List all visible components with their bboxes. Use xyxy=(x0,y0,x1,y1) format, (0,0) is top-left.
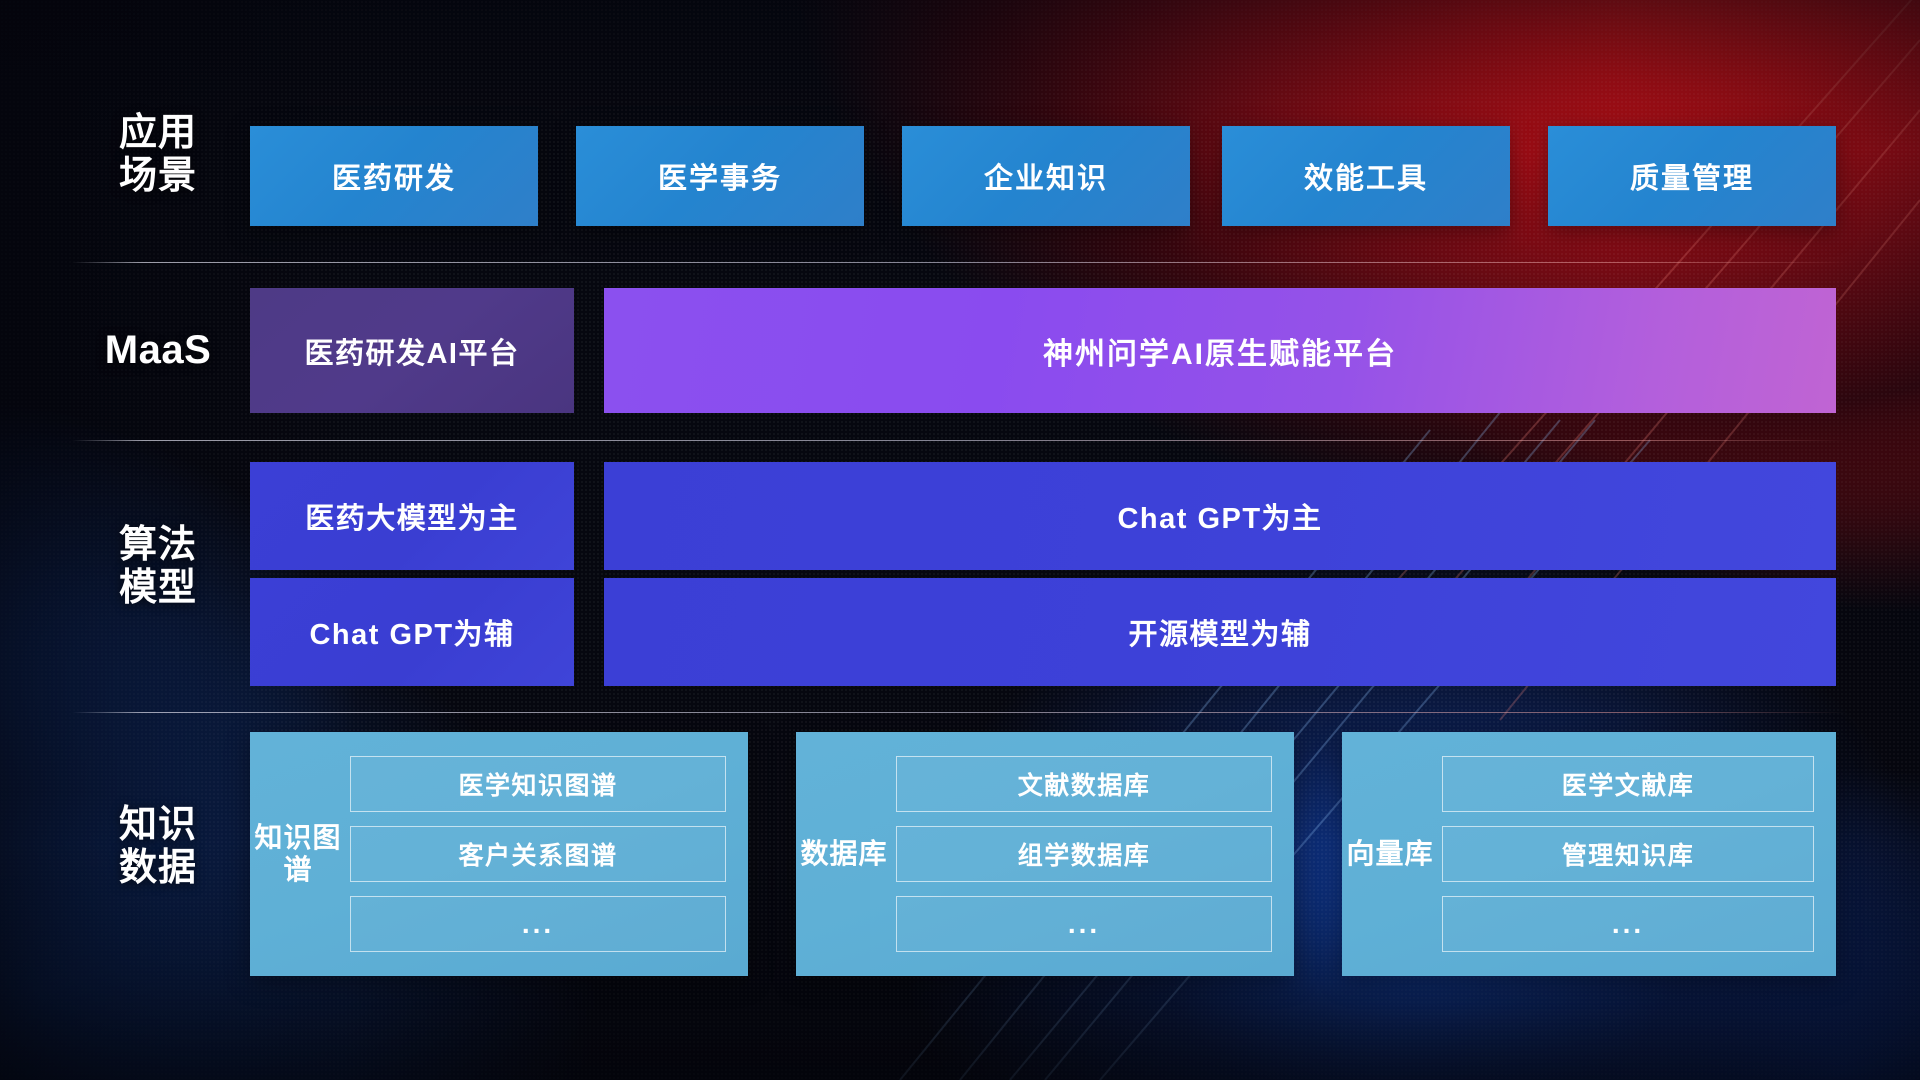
knowledge-group-items-0: 医学知识图谱 客户关系图谱 ... xyxy=(346,732,748,976)
algo-main-card-0[interactable]: Chat GPT为主 xyxy=(604,462,1836,570)
row-label-knowledge-data: 知识 数据 xyxy=(78,804,238,891)
app-card-0[interactable]: 医药研发 xyxy=(250,126,538,226)
knowledge-item-1-1[interactable]: 组学数据库 xyxy=(896,826,1272,882)
row-label-application-scene: 应用 场景 xyxy=(78,112,238,199)
algo-main-card-1[interactable]: 开源模型为辅 xyxy=(604,578,1836,686)
divider-3 xyxy=(72,712,1848,713)
app-card-4[interactable]: 质量管理 xyxy=(1548,126,1836,226)
knowledge-item-0-2[interactable]: ... xyxy=(350,896,726,952)
knowledge-item-2-2[interactable]: ... xyxy=(1442,896,1814,952)
knowledge-group-0[interactable]: 知识图谱 医学知识图谱 客户关系图谱 ... xyxy=(250,732,748,976)
knowledge-item-0-0[interactable]: 医学知识图谱 xyxy=(350,756,726,812)
row-knowledge-data: 知识 数据 知识图谱 医学知识图谱 客户关系图谱 ... 数据库 文献数据库 组… xyxy=(0,732,1920,976)
algo-left-card-0[interactable]: 医药大模型为主 xyxy=(250,462,574,570)
knowledge-group-items-2: 医学文献库 管理知识库 ... xyxy=(1438,732,1836,976)
row-label-line2: 场景 xyxy=(78,155,238,198)
knowledge-group-title-0: 知识图谱 xyxy=(250,732,346,976)
knowledge-item-0-1[interactable]: 客户关系图谱 xyxy=(350,826,726,882)
knowledge-group-1[interactable]: 数据库 文献数据库 组学数据库 ... xyxy=(796,732,1294,976)
knowledge-item-2-1[interactable]: 管理知识库 xyxy=(1442,826,1814,882)
knowledge-item-2-0[interactable]: 医学文献库 xyxy=(1442,756,1814,812)
row-maas: MaaS 医药研发AI平台 神州问学AI原生赋能平台 xyxy=(0,288,1920,413)
row-label-line2: 模型 xyxy=(78,567,238,610)
app-card-2[interactable]: 企业知识 xyxy=(902,126,1190,226)
row-label-maas: MaaS xyxy=(78,328,238,374)
row-application-scene: 应用 场景 医药研发 医学事务 企业知识 效能工具 质量管理 xyxy=(0,126,1920,226)
row-label-line1: 算法 xyxy=(78,524,238,567)
row-label-algorithm-model: 算法 模型 xyxy=(78,524,238,611)
knowledge-group-items-1: 文献数据库 组学数据库 ... xyxy=(892,732,1294,976)
divider-1 xyxy=(72,262,1848,263)
row-label-line1: 应用 xyxy=(78,112,238,155)
knowledge-group-title-1: 数据库 xyxy=(796,732,892,976)
maas-main-card[interactable]: 神州问学AI原生赋能平台 xyxy=(604,288,1836,413)
app-card-3[interactable]: 效能工具 xyxy=(1222,126,1510,226)
divider-2 xyxy=(72,440,1848,441)
knowledge-item-1-2[interactable]: ... xyxy=(896,896,1272,952)
app-card-1[interactable]: 医学事务 xyxy=(576,126,864,226)
knowledge-group-2[interactable]: 向量库 医学文献库 管理知识库 ... xyxy=(1342,732,1836,976)
row-algorithm-model: 算法 模型 医药大模型为主 Chat GPT为主 Chat GPT为辅 开源模型… xyxy=(0,462,1920,692)
algo-left-card-1[interactable]: Chat GPT为辅 xyxy=(250,578,574,686)
maas-left-card[interactable]: 医药研发AI平台 xyxy=(250,288,574,413)
row-label-line2: 数据 xyxy=(78,847,238,890)
knowledge-group-title-2: 向量库 xyxy=(1342,732,1438,976)
knowledge-item-1-0[interactable]: 文献数据库 xyxy=(896,756,1272,812)
row-label-line1: 知识 xyxy=(78,804,238,847)
